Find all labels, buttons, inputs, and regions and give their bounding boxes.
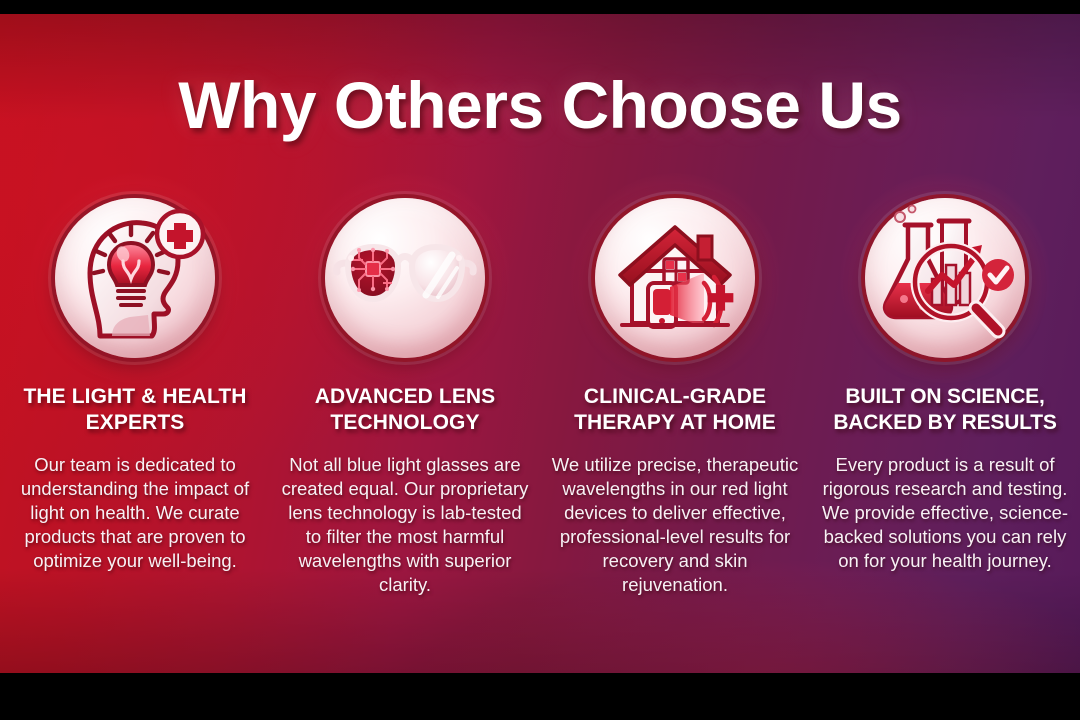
icon-container — [861, 194, 1029, 362]
card-title: BUILT ON SCIENCE, BACKED BY RESULTS — [816, 384, 1074, 435]
feature-card-light-health-experts: THE LIGHT & HEALTH EXPERTS Our team is d… — [0, 194, 270, 598]
card-title: ADVANCED LENS TECHNOLOGY — [276, 384, 534, 435]
card-body: We utilize precise, therapeutic waveleng… — [546, 453, 804, 597]
infographic-stage: Why Others Choose Us — [0, 14, 1080, 673]
letterbox-top-bar — [0, 0, 1080, 14]
lab-flask-magnifier-chart-icon — [870, 203, 1020, 353]
feature-card-advanced-lens-technology: ADVANCED LENS TECHNOLOGY Not all blue li… — [270, 194, 540, 598]
feature-card-list: THE LIGHT & HEALTH EXPERTS Our team is d… — [0, 194, 1080, 598]
feature-card-clinical-grade-therapy: CLINICAL-GRADE THERAPY AT HOME We utiliz… — [540, 194, 810, 598]
feature-card-built-on-science: BUILT ON SCIENCE, BACKED BY RESULTS Ever… — [810, 194, 1080, 598]
medallion-background — [55, 198, 215, 358]
medallion-background — [865, 198, 1025, 358]
infographic-screen: Why Others Choose Us — [0, 0, 1080, 720]
letterbox-bottom-bar — [0, 673, 1080, 720]
icon-container — [321, 194, 489, 362]
head-lightbulb-medical-icon — [60, 203, 210, 353]
card-body: Every product is a result of rigorous re… — [816, 453, 1074, 573]
page-title: Why Others Choose Us — [0, 72, 1080, 138]
home-red-light-device-icon — [600, 203, 750, 353]
card-title: THE LIGHT & HEALTH EXPERTS — [6, 384, 264, 435]
medallion-background — [325, 198, 485, 358]
medallion-background — [595, 198, 755, 358]
icon-container — [51, 194, 219, 362]
eyeglasses-circuit-lens-icon — [330, 203, 480, 353]
icon-container — [591, 194, 759, 362]
card-title: CLINICAL-GRADE THERAPY AT HOME — [546, 384, 804, 435]
card-body: Our team is dedicated to understanding t… — [6, 453, 264, 573]
card-body: Not all blue light glasses are created e… — [276, 453, 534, 597]
